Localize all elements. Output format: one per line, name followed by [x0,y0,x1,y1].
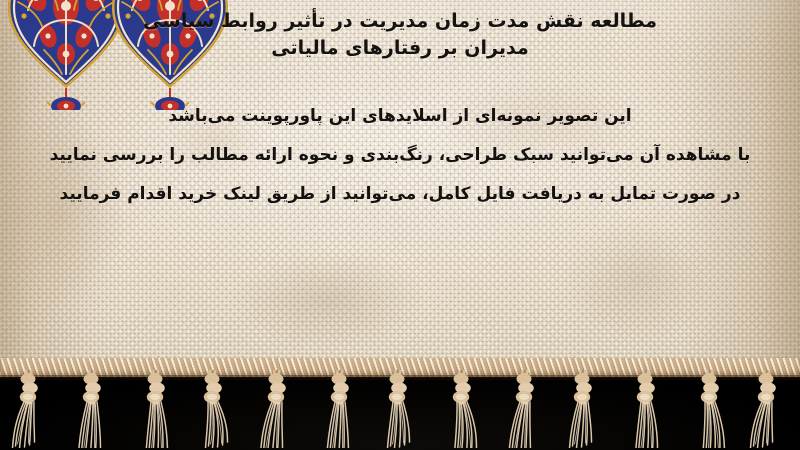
tassel [561,370,605,448]
slide-title: مطالعه نقش مدت زمان مدیریت در تأثیر رواب… [14,8,786,62]
tassel [255,370,299,448]
tassel [624,370,668,448]
body-line-1: این تصویر نمونه‌ای از اسلایدهای این پاور… [10,108,790,125]
tassel [318,370,362,448]
tassel [745,370,789,448]
tassel [440,370,484,448]
tassel [376,370,420,448]
tassel [191,370,235,448]
slide-title-line-1: مطالعه نقش مدت زمان مدیریت در تأثیر رواب… [14,8,786,35]
slide-title-line-2: مدیران بر رفتارهای مالیاتی [14,35,786,62]
tassel [134,370,178,448]
text-layer: مطالعه نقش مدت زمان مدیریت در تأثیر رواب… [0,0,800,380]
slide-canvas: مطالعه نقش مدت زمان مدیریت در تأثیر رواب… [0,0,800,450]
tassel [7,370,51,448]
body-line-2: با مشاهده آن می‌توانید سبک طراحی، رنگ‌بن… [10,147,790,164]
tassel [503,370,547,448]
carpet-rope-fringe [0,358,800,450]
tassel [70,370,114,448]
body-line-3: در صورت تمایل به دریافت فایل کامل، می‌تو… [10,186,790,203]
tassel [688,370,732,448]
slide-body: این تصویر نمونه‌ای از اسلایدهای این پاور… [10,108,790,203]
